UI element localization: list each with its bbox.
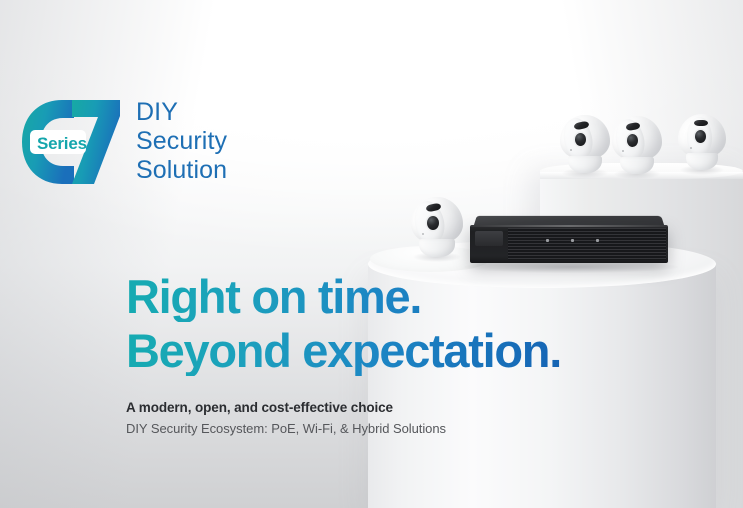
camera-lens	[575, 133, 586, 146]
subhead-secondary: DIY Security Ecosystem: PoE, Wi-Fi, & Hy…	[126, 421, 446, 436]
nvr-edge-highlight	[470, 225, 668, 227]
nvr-vent-grille	[508, 228, 666, 260]
nvr-led-power	[546, 239, 549, 242]
camera-lens	[695, 130, 706, 143]
camera-status-led	[570, 149, 572, 151]
camera-ir-strip	[694, 120, 708, 126]
nvr-led-hdd	[571, 239, 574, 242]
camera-status-led	[622, 150, 624, 152]
camera-status-led	[422, 233, 424, 235]
hero-headline: Right on time. Beyond expectation.	[126, 272, 561, 376]
c7-series-logo: Series DIY Security Solution	[16, 96, 227, 188]
hero-subhead: A modern, open, and cost-effective choic…	[126, 400, 446, 436]
camera-lens	[627, 134, 638, 147]
turret-camera-back-center	[612, 116, 662, 174]
nvr-recorder	[470, 212, 668, 264]
nvr-side-panel	[475, 231, 503, 246]
turret-camera-front-left	[411, 197, 463, 257]
product-hero-banner: Series DIY Security Solution Right on ti…	[0, 0, 743, 508]
logo-word-line-1: DIY	[136, 98, 227, 127]
c7-logomark: Series	[16, 96, 124, 188]
logo-word-line-3: Solution	[136, 156, 227, 185]
headline-line-1: Right on time.	[126, 272, 561, 322]
series-label: Series	[37, 134, 87, 154]
subhead-primary: A modern, open, and cost-effective choic…	[126, 400, 446, 415]
nvr-led-network	[596, 239, 599, 242]
headline-line-2: Beyond expectation.	[126, 326, 561, 376]
camera-lens	[427, 216, 439, 230]
turret-camera-back-left	[560, 115, 610, 173]
nvr-front-panel	[470, 225, 668, 263]
logo-wordmark: DIY Security Solution	[136, 98, 227, 185]
turret-camera-back-right	[678, 114, 726, 170]
logo-word-line-2: Security	[136, 127, 227, 156]
camera-status-led	[690, 147, 692, 149]
